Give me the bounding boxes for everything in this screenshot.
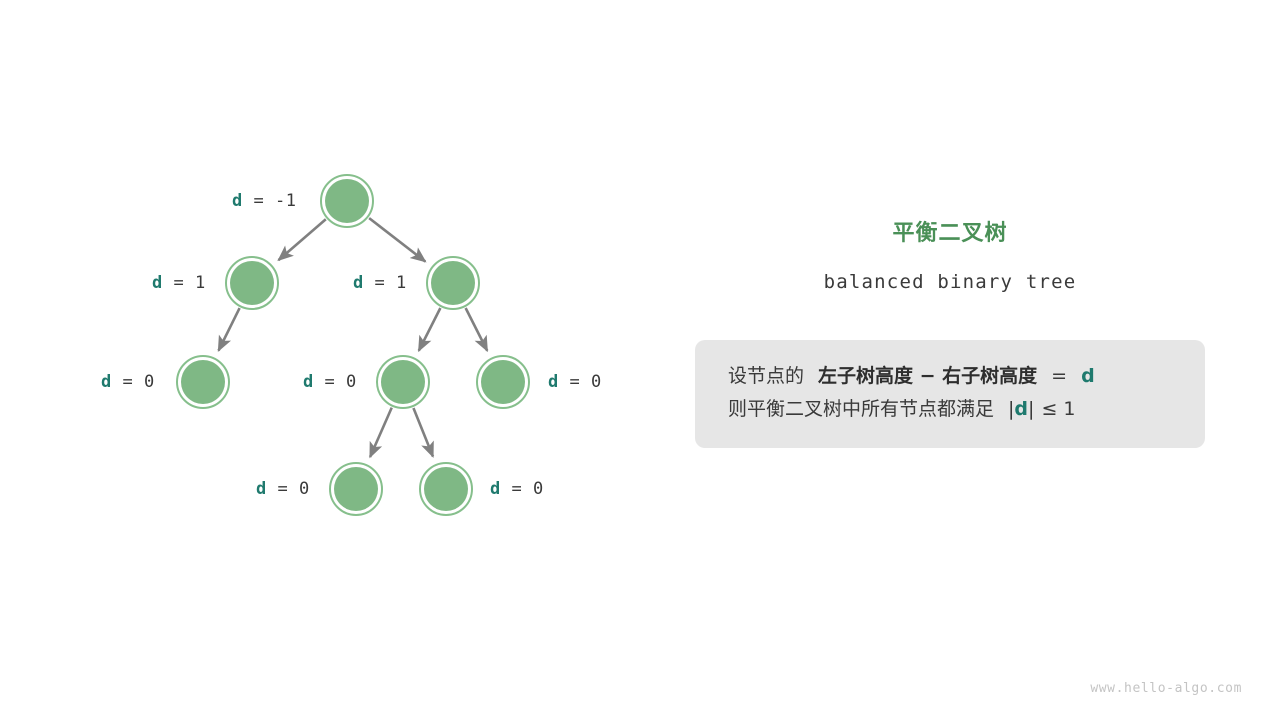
tree-node-disc <box>181 360 225 404</box>
node-balance-label: d = 0 <box>303 372 357 392</box>
page-title: 平衡二叉树 <box>695 215 1205 247</box>
tree-node-disc <box>334 467 378 511</box>
tree-node-disc <box>381 360 425 404</box>
definition-line1-variable: d <box>1081 365 1095 387</box>
node-balance-label: d = 0 <box>256 479 310 499</box>
tree-node[interactable] <box>226 257 278 309</box>
node-balance-variable: d <box>490 479 501 499</box>
tree-node-disc <box>230 261 274 305</box>
definition-line1-equals: = <box>1051 365 1067 387</box>
definition-line2-variable: d <box>1014 398 1028 420</box>
definition-line2-bar-close: | <box>1028 398 1034 420</box>
node-balance-value: = 1 <box>364 273 407 293</box>
definition-line2-relation: ≤ 1 <box>1041 398 1075 420</box>
tree-node[interactable] <box>321 175 373 227</box>
node-balance-label: d = 0 <box>548 372 602 392</box>
tree-edge <box>370 408 392 457</box>
tree-edge <box>369 218 425 261</box>
node-balance-variable: d <box>101 372 112 392</box>
node-balance-variable: d <box>548 372 559 392</box>
definition-line2-lead: 则平衡二叉树中所有节点都满足 <box>728 398 994 420</box>
tree-node[interactable] <box>377 356 429 408</box>
node-balance-value: = 0 <box>112 372 155 392</box>
tree-node-disc <box>431 261 475 305</box>
node-balance-value: = -1 <box>243 191 297 211</box>
binary-tree-graphic <box>0 0 680 720</box>
node-balance-variable: d <box>353 273 364 293</box>
tree-edge <box>278 219 325 260</box>
tree-node-disc <box>424 467 468 511</box>
definition-line1-bold: 左子树高度 − 右子树高度 <box>818 365 1037 387</box>
tree-edge <box>413 408 433 457</box>
node-balance-label: d = 1 <box>353 273 407 293</box>
node-balance-label: d = -1 <box>232 191 296 211</box>
tree-node[interactable] <box>177 356 229 408</box>
tree-node[interactable] <box>427 257 479 309</box>
node-balance-variable: d <box>303 372 314 392</box>
diagram-canvas: d = -1d = 1d = 1d = 0d = 0d = 0d = 0d = … <box>0 0 1280 720</box>
tree-edge <box>219 308 240 351</box>
node-balance-variable: d <box>256 479 267 499</box>
definition-line-2: 则平衡二叉树中所有节点都满足|d|≤ 1 <box>728 393 1172 426</box>
node-balance-value: = 0 <box>267 479 310 499</box>
tree-edges <box>219 218 488 457</box>
definition-box: 设节点的左子树高度 − 右子树高度=d 则平衡二叉树中所有节点都满足|d|≤ 1 <box>695 340 1205 448</box>
tree-node[interactable] <box>330 463 382 515</box>
node-balance-variable: d <box>152 273 163 293</box>
tree-node[interactable] <box>477 356 529 408</box>
watermark: www.hello-algo.com <box>1090 681 1242 696</box>
tree-node[interactable] <box>420 463 472 515</box>
tree-node-disc <box>325 179 369 223</box>
definition-line-1: 设节点的左子树高度 − 右子树高度=d <box>728 360 1172 393</box>
tree-node-disc <box>481 360 525 404</box>
node-balance-label: d = 0 <box>101 372 155 392</box>
node-balance-variable: d <box>232 191 243 211</box>
node-balance-value: = 1 <box>163 273 206 293</box>
node-balance-value: = 0 <box>314 372 357 392</box>
node-balance-value: = 0 <box>501 479 544 499</box>
tree-edge <box>466 308 488 351</box>
node-balance-label: d = 0 <box>490 479 544 499</box>
tree-nodes <box>177 175 529 515</box>
concept-subtitle: balanced binary tree <box>695 271 1205 293</box>
concept-panel: 平衡二叉树 balanced binary tree 设节点的左子树高度 − 右… <box>695 215 1205 448</box>
definition-line1-lead: 设节点的 <box>728 365 804 387</box>
node-balance-value: = 0 <box>559 372 602 392</box>
tree-edge <box>419 308 441 351</box>
node-balance-label: d = 1 <box>152 273 206 293</box>
